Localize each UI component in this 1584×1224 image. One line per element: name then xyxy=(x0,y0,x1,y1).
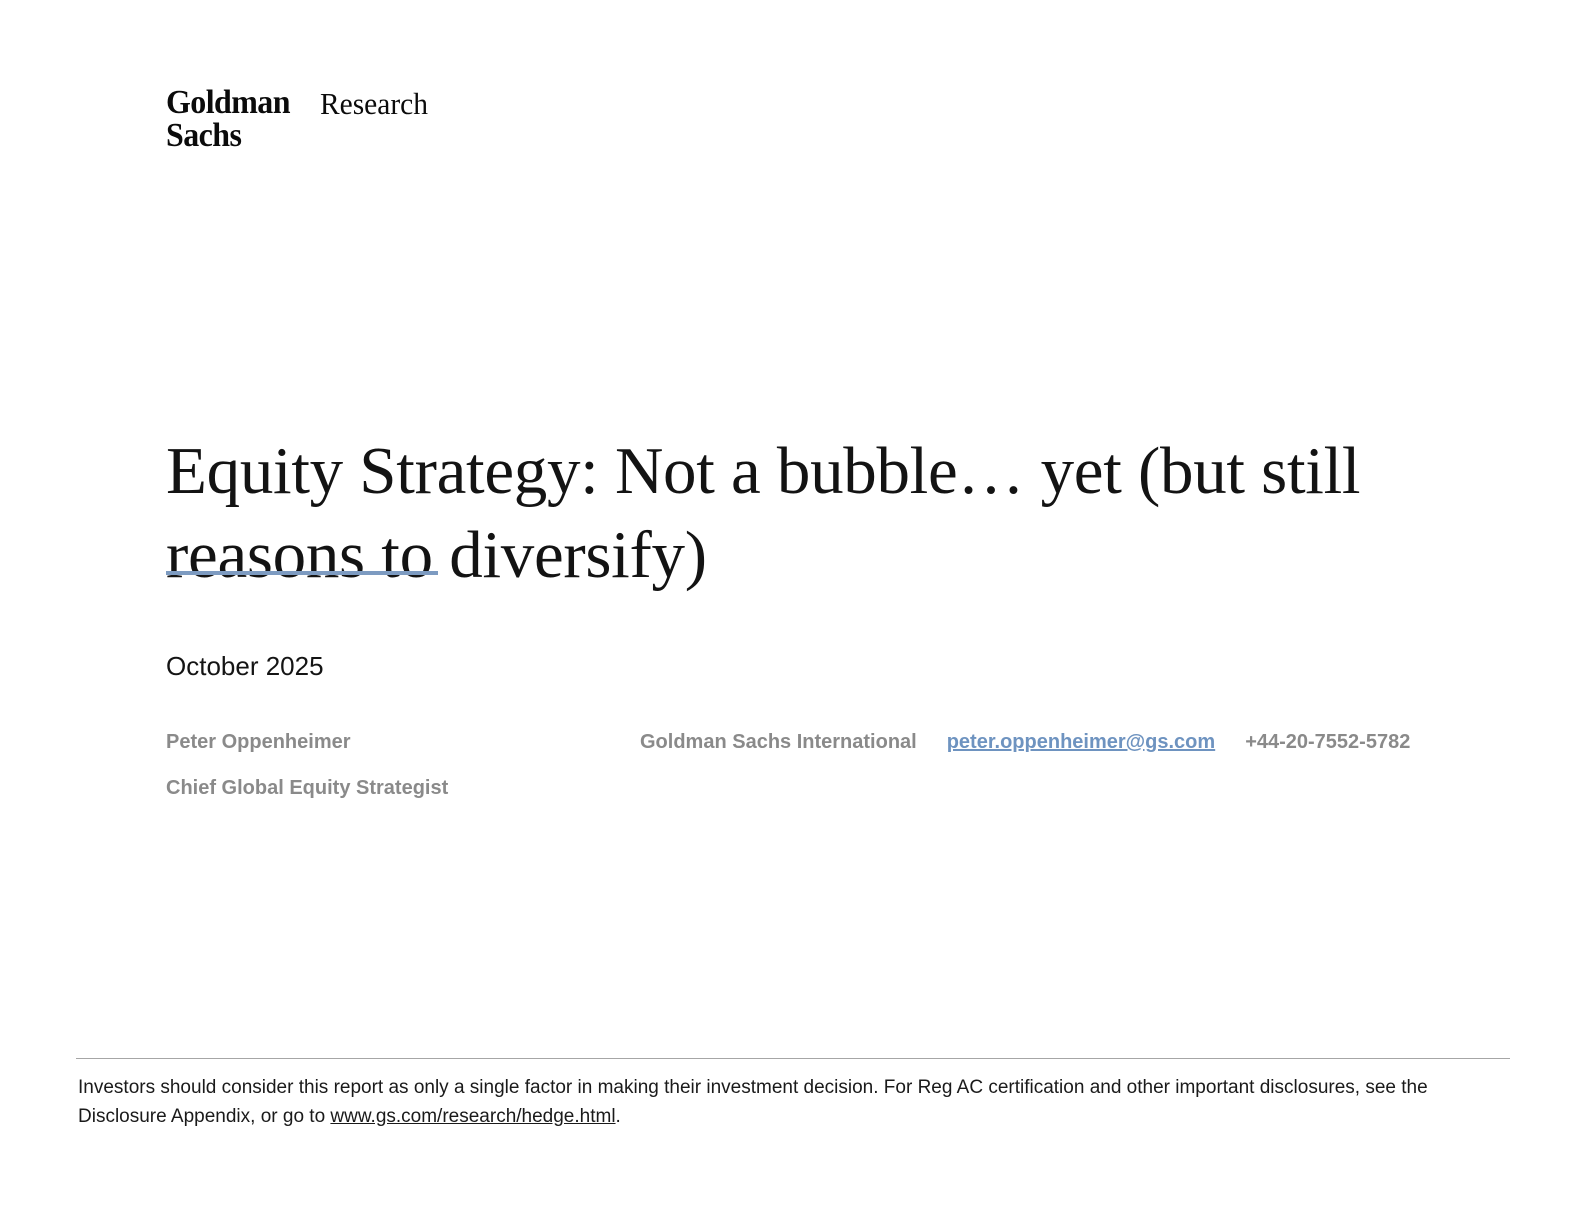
disclosure-url-link[interactable]: www.gs.com/research/hedge.html xyxy=(330,1106,615,1127)
disclaimer-text: Investors should consider this report as… xyxy=(78,1073,1498,1131)
title-accent-rule xyxy=(166,571,438,575)
author-name: Peter Oppenheimer xyxy=(166,731,640,754)
footer-divider xyxy=(76,1058,1510,1059)
research-wordmark: Research xyxy=(320,87,428,120)
author-secondary-row: Chief Global Equity Strategist xyxy=(166,777,1486,823)
publication-date: October 2025 xyxy=(166,651,324,682)
document-cover-page: Goldman Sachs Research Equity Strategy: … xyxy=(0,0,1584,1224)
goldman-sachs-research-logo: Goldman Sachs Research xyxy=(166,86,433,152)
disclaimer-text-tail: . xyxy=(616,1106,621,1127)
author-phone: +44-20-7552-5782 xyxy=(1245,731,1410,754)
author-contact-block: Peter Oppenheimer Goldman Sachs Internat… xyxy=(166,731,1486,823)
author-organization: Goldman Sachs International xyxy=(640,731,917,754)
goldman-sachs-wordmark: Goldman Sachs xyxy=(166,86,290,152)
author-job-title: Chief Global Equity Strategist xyxy=(166,777,448,800)
author-primary-row: Peter Oppenheimer Goldman Sachs Internat… xyxy=(166,731,1486,777)
disclaimer-text-lead: Investors should consider this report as… xyxy=(78,1077,1428,1127)
author-email-link[interactable]: peter.oppenheimer@gs.com xyxy=(947,731,1215,754)
